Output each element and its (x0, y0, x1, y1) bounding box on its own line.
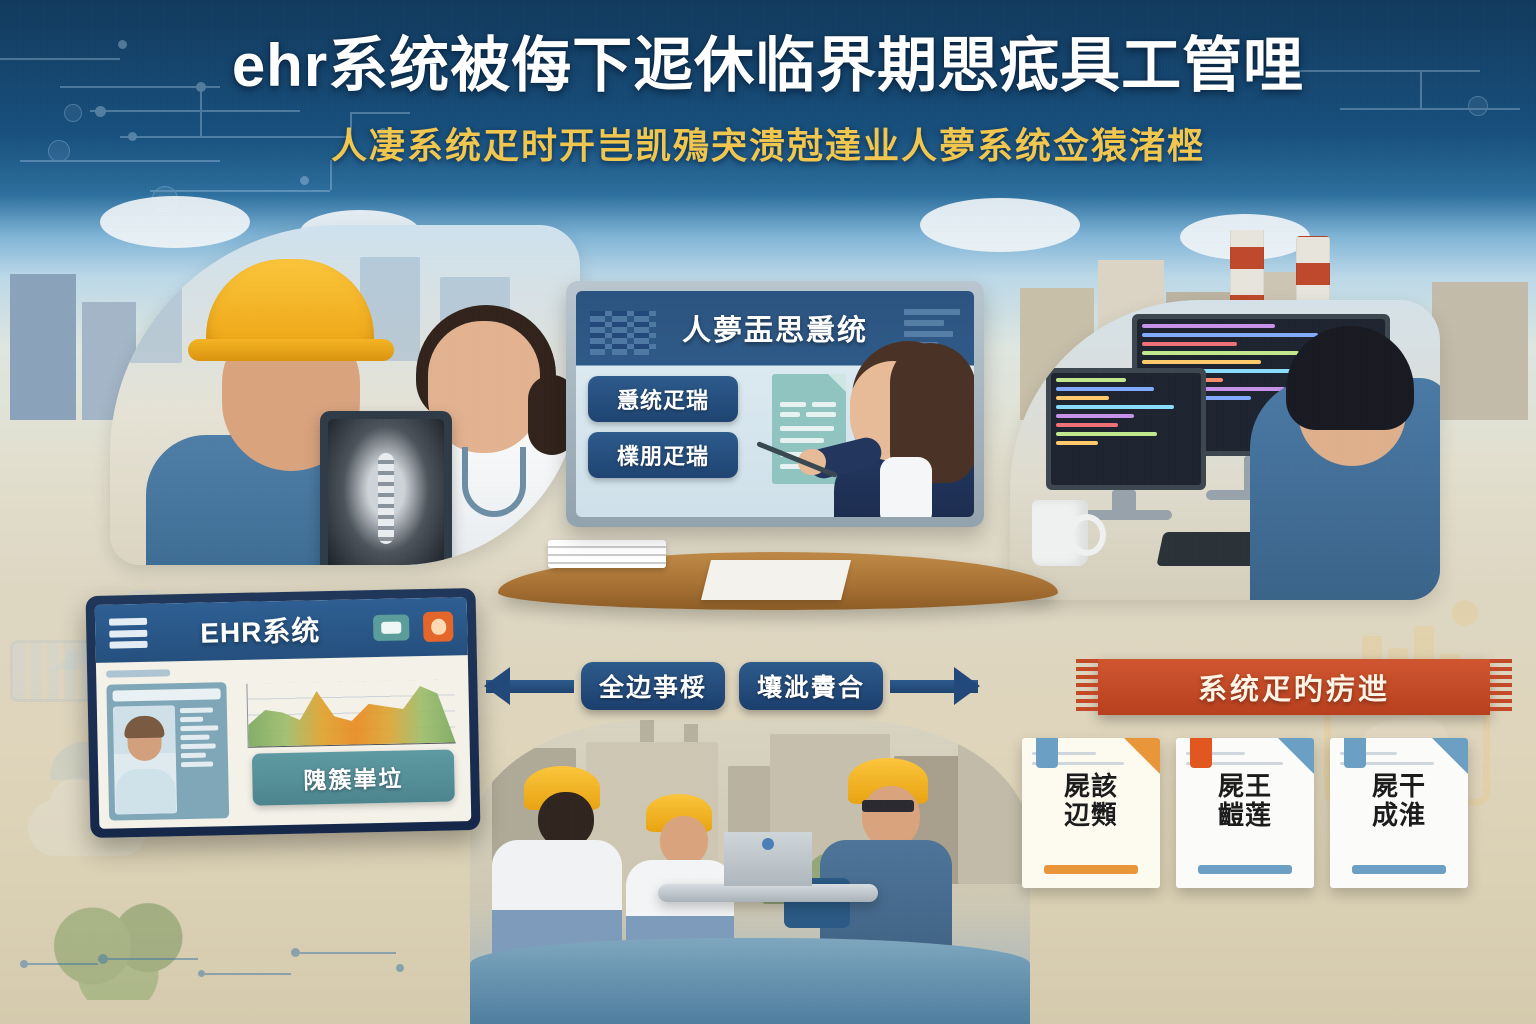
card-underline-bar (1352, 865, 1446, 874)
document-card[interactable]: 屍王 䶣莲 (1176, 738, 1314, 888)
tablet-device (320, 411, 452, 565)
infographic-poster: ehr系统被侮下迡休临界期愳疷具工管哩 人凄系统疋时开岂凯殦宊溃尅達业人夢系统佥… (0, 0, 1536, 1024)
card-text: 屍王 䶣莲 (1186, 772, 1304, 830)
flow-label-1[interactable]: 全边亊桵 (581, 662, 725, 710)
placeholder-grid-left (590, 311, 656, 355)
card-fold-corner (1432, 738, 1468, 774)
document-card[interactable]: 屍該 辺䫶 (1022, 738, 1160, 888)
water-foreground (470, 938, 1030, 1024)
poster-title: ehr系统被侮下迡休临界期愳疷具工管哩 (0, 34, 1536, 97)
flow-label-2[interactable]: 壤泚賮合 (739, 662, 883, 710)
coffee-mug (1032, 500, 1088, 566)
ehr-title: EHR系统 (161, 608, 360, 652)
flow-arrow-row: 全边亊桵 壤泚賮合 (486, 655, 1012, 717)
card-text: 屍該 辺䫶 (1032, 772, 1150, 830)
monitor-base (658, 884, 878, 902)
card-line-2: 䶣莲 (1186, 801, 1304, 830)
card-fold-corner (1278, 738, 1314, 774)
screen-button-2[interactable]: 檏朋疋瑞 (588, 432, 738, 478)
presenter-figure (828, 339, 974, 517)
flow-label-1-text: 全边亊桵 (599, 668, 707, 704)
card-line-2: 成淮 (1340, 801, 1458, 830)
content-heading-placeholder (106, 669, 170, 677)
screen-button-1-label: 㥯统疋瑞 (617, 383, 709, 415)
card-tab (1036, 738, 1058, 768)
flow-label-2-text: 壤泚賮合 (757, 668, 865, 704)
card-line-2: 辺䫶 (1032, 801, 1150, 830)
arrow-right-icon (890, 673, 978, 699)
paper-sheet (701, 560, 851, 600)
document-card[interactable]: 屍干 成淮 (1330, 738, 1468, 888)
title-block: ehr系统被侮下迡休临界期愳疷具工管哩 人凄系统疋时开岂凯殦宊溃尅達业人夢系统佥… (0, 34, 1536, 169)
arrow-left-icon (486, 673, 574, 699)
card-underline-bar (1044, 865, 1138, 874)
monitor-power-led (762, 838, 774, 850)
screen-button-2-label: 檏朋疋瑞 (617, 439, 709, 471)
hamburger-menu-icon[interactable] (109, 618, 148, 649)
patient-record-card[interactable] (106, 682, 229, 820)
card-text: 屍干 成淮 (1340, 772, 1458, 830)
search-input[interactable] (112, 688, 220, 701)
card-fold-corner (1124, 738, 1160, 774)
ehr-header: EHR系统 (95, 597, 468, 663)
patient-avatar (113, 705, 177, 814)
chart-area-path (247, 679, 455, 746)
status-banner: 系统疋旳疠迣 (1098, 659, 1490, 715)
ehr-monitor[interactable]: EHR系统 (86, 588, 481, 838)
card-tab (1190, 738, 1212, 768)
worker-doctor-xray-scene (110, 225, 580, 565)
ehr-action-button-label: 隗簇崋垃 (303, 759, 404, 795)
presentation-screen[interactable]: 人夢㿻思㥯统 㥯统疋瑞 檏朋疋瑞 (566, 281, 984, 527)
monitor-front (1046, 368, 1206, 490)
document-card-list: 屍該 辺䫶 屍王 䶣莲 屍干 成淮 (1022, 738, 1472, 888)
card-line-1: 屍王 (1186, 772, 1304, 801)
hard-hat-icon (206, 259, 374, 355)
card-underline-bar (1198, 865, 1292, 874)
health-trend-chart (246, 679, 455, 747)
ehr-action-button[interactable]: 隗簇崋垃 (252, 749, 455, 805)
document-stack (548, 540, 666, 568)
poster-subtitle: 人凄系统疋时开岂凯殦宊溃尅達业人夢系统佥猿渚㭴 (0, 117, 1536, 169)
patient-detail-lines (180, 704, 223, 813)
card-tab (1344, 738, 1366, 768)
card-line-1: 屍干 (1340, 772, 1458, 801)
stethoscope-icon (462, 447, 526, 517)
dot-connector-decoration (6, 930, 426, 1000)
status-banner-label: 系统疋旳疠迣 (1198, 666, 1390, 708)
xray-image (328, 419, 444, 565)
screen-button-1[interactable]: 㥯统疋瑞 (588, 376, 738, 422)
message-icon[interactable] (373, 614, 410, 641)
notification-icon[interactable] (423, 611, 454, 642)
card-line-1: 屍該 (1032, 772, 1150, 801)
